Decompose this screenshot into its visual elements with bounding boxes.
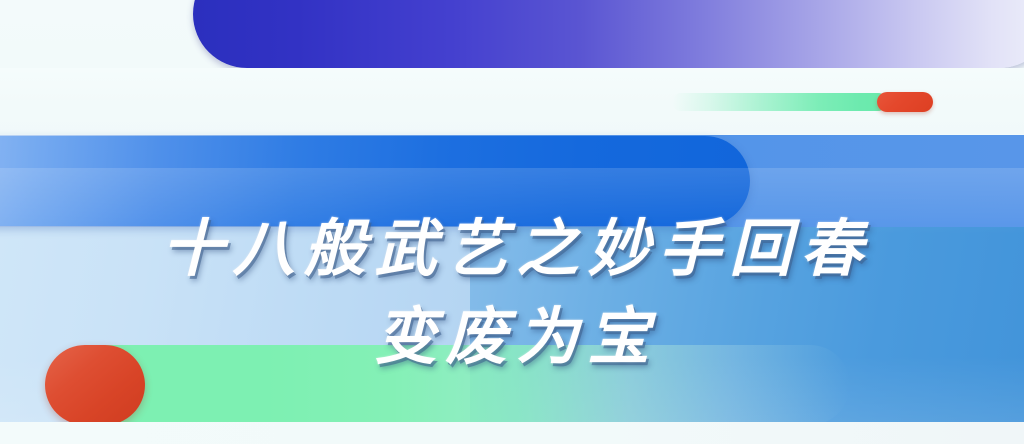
bottom-green-capsule-shape [60, 345, 850, 425]
upper-right-green-capsule-shape [672, 93, 887, 111]
top-purple-capsule-shape [193, 0, 1024, 68]
banner-root: 十八般武艺之妙手回春 变废为宝 [0, 0, 1024, 444]
bottom-white-strip [0, 422, 1024, 444]
upper-right-red-cap-shape [877, 92, 933, 112]
bottom-red-cap-shape [45, 345, 145, 425]
